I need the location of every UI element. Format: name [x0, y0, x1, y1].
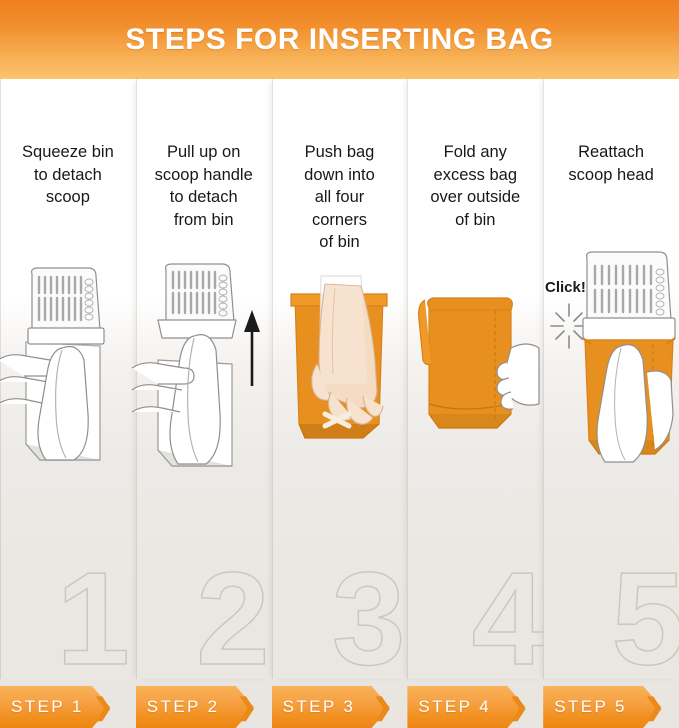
caption-line: to detach	[4, 164, 132, 187]
step-banner-label-2: STEP 2	[136, 697, 220, 717]
chevron-right-icon: ❯	[505, 686, 531, 728]
page-title: STEPS FOR INSERTING BAG	[125, 23, 553, 57]
caption-line: from bin	[140, 209, 268, 232]
caption-line: over outside	[411, 186, 539, 209]
step-panel-2: Pull up on scoop handle to detach from b…	[136, 79, 272, 679]
caption-line: of bin	[276, 231, 404, 254]
caption-line: scoop	[4, 186, 132, 209]
caption-line: all four	[276, 186, 404, 209]
caption-line: Squeeze bin	[4, 141, 132, 164]
caption-line: Fold any	[411, 141, 539, 164]
caption-line: to detach	[140, 186, 268, 209]
step-banner-cell-4: STEP 4 ❯	[407, 686, 543, 728]
illustration-3	[272, 264, 408, 494]
step-banner-label-4: STEP 4	[407, 697, 491, 717]
caption-line: of bin	[411, 209, 539, 232]
caption-line: corners	[276, 209, 404, 232]
watermark-number-2: 2	[196, 553, 269, 685]
watermark-number-4: 4	[472, 553, 545, 685]
illustration-5: Click!	[543, 264, 679, 494]
step-caption-5: Reattach scoop head	[547, 141, 675, 186]
watermark-number-5: 5	[612, 553, 679, 685]
step-panel-4: Fold any excess bag over outside of bin	[407, 79, 543, 679]
click-annotation: Click!	[545, 279, 586, 296]
chevron-right-icon: ❯	[370, 686, 396, 728]
step-caption-1: Squeeze bin to detach scoop	[4, 141, 132, 209]
caption-line: excess bag	[411, 164, 539, 187]
watermark-number-3: 3	[332, 553, 405, 685]
step-banner-cell-3: STEP 3 ❯	[272, 686, 408, 728]
step-banner-label-1: STEP 1	[0, 697, 84, 717]
watermark-number-1: 1	[56, 553, 129, 685]
illustration-1	[0, 264, 136, 494]
header-banner: STEPS FOR INSERTING BAG	[0, 0, 679, 79]
spark-icon	[551, 304, 587, 348]
step-caption-4: Fold any excess bag over outside of bin	[411, 141, 539, 231]
step-banner-cell-5: STEP 5 ❯	[543, 686, 679, 728]
step-banner-label-5: STEP 5	[543, 697, 627, 717]
chevron-right-icon: ❯	[641, 686, 667, 728]
step-panel-1: Squeeze bin to detach scoop	[0, 79, 136, 679]
caption-line: down into	[276, 164, 404, 187]
step-columns: Squeeze bin to detach scoop	[0, 79, 679, 679]
caption-line: Reattach	[547, 141, 675, 164]
step-panel-3: Push bag down into all four corners of b…	[272, 79, 408, 679]
caption-line: scoop handle	[140, 164, 268, 187]
steps-area: Squeeze bin to detach scoop	[0, 79, 679, 679]
step-banner-cell-1: STEP 1 ❯	[0, 686, 136, 728]
illustration-2	[136, 264, 272, 494]
step-banner-cell-2: STEP 2 ❯	[136, 686, 272, 728]
illustration-4	[407, 264, 543, 494]
caption-line: Pull up on	[140, 141, 268, 164]
infographic-root: STEPS FOR INSERTING BAG Squeeze bin to d…	[0, 0, 679, 679]
chevron-right-icon: ❯	[90, 686, 116, 728]
caption-line: scoop head	[547, 164, 675, 187]
step-banner-label-3: STEP 3	[272, 697, 356, 717]
step-panel-5: Reattach scoop head Click!	[543, 79, 679, 679]
chevron-right-icon: ❯	[234, 686, 260, 728]
step-banner-row: STEP 1 ❯ STEP 2 ❯ STEP 3 ❯ STEP 4	[0, 686, 679, 728]
step-caption-2: Pull up on scoop handle to detach from b…	[140, 141, 268, 231]
up-arrow-icon	[244, 310, 260, 386]
caption-line: Push bag	[276, 141, 404, 164]
step-caption-3: Push bag down into all four corners of b…	[276, 141, 404, 254]
